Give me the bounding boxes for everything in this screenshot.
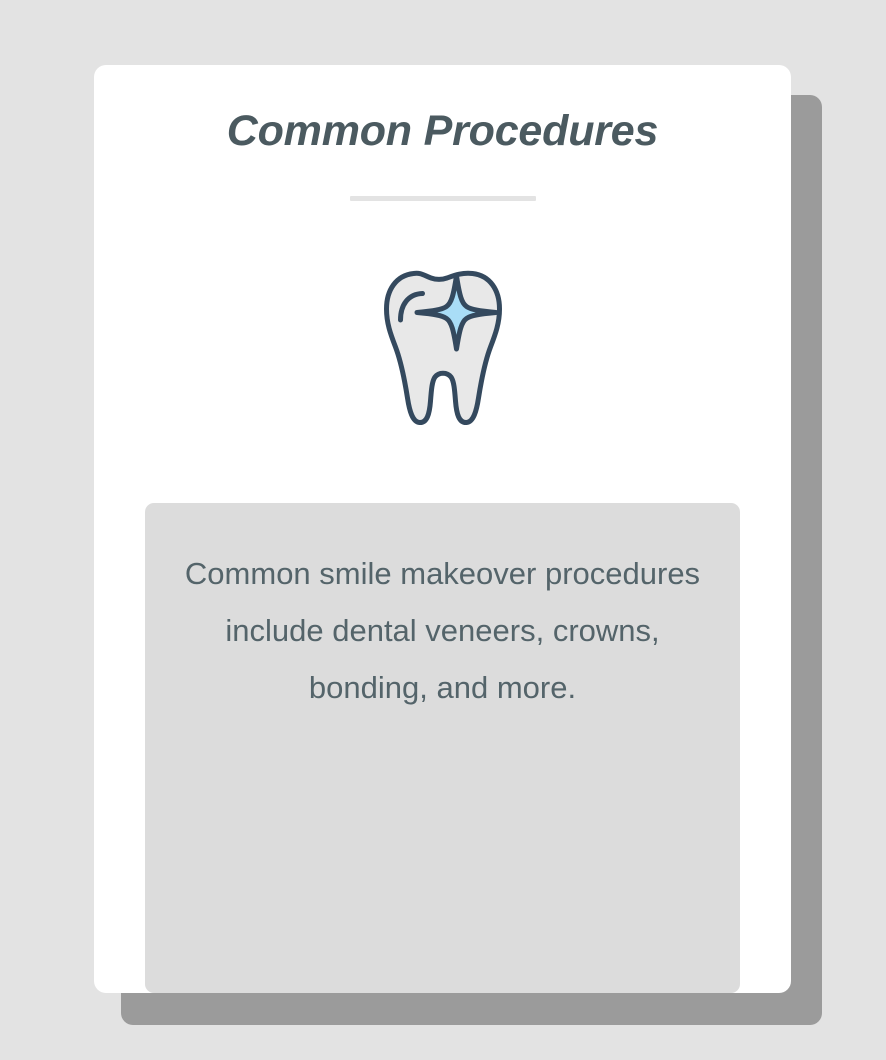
title-divider (350, 196, 536, 201)
description-panel: Common smile makeover procedures include… (145, 503, 740, 993)
sparkling-tooth-icon (94, 265, 791, 430)
sparkling-tooth-icon-graphic (382, 267, 504, 429)
common-procedures-card[interactable]: Common Procedures Common smile makeover … (94, 65, 791, 993)
slide-canvas: Common Procedures Common smile makeover … (0, 0, 886, 1060)
description-text: Common smile makeover procedures include… (177, 545, 708, 716)
card-title: Common Procedures (94, 105, 791, 157)
